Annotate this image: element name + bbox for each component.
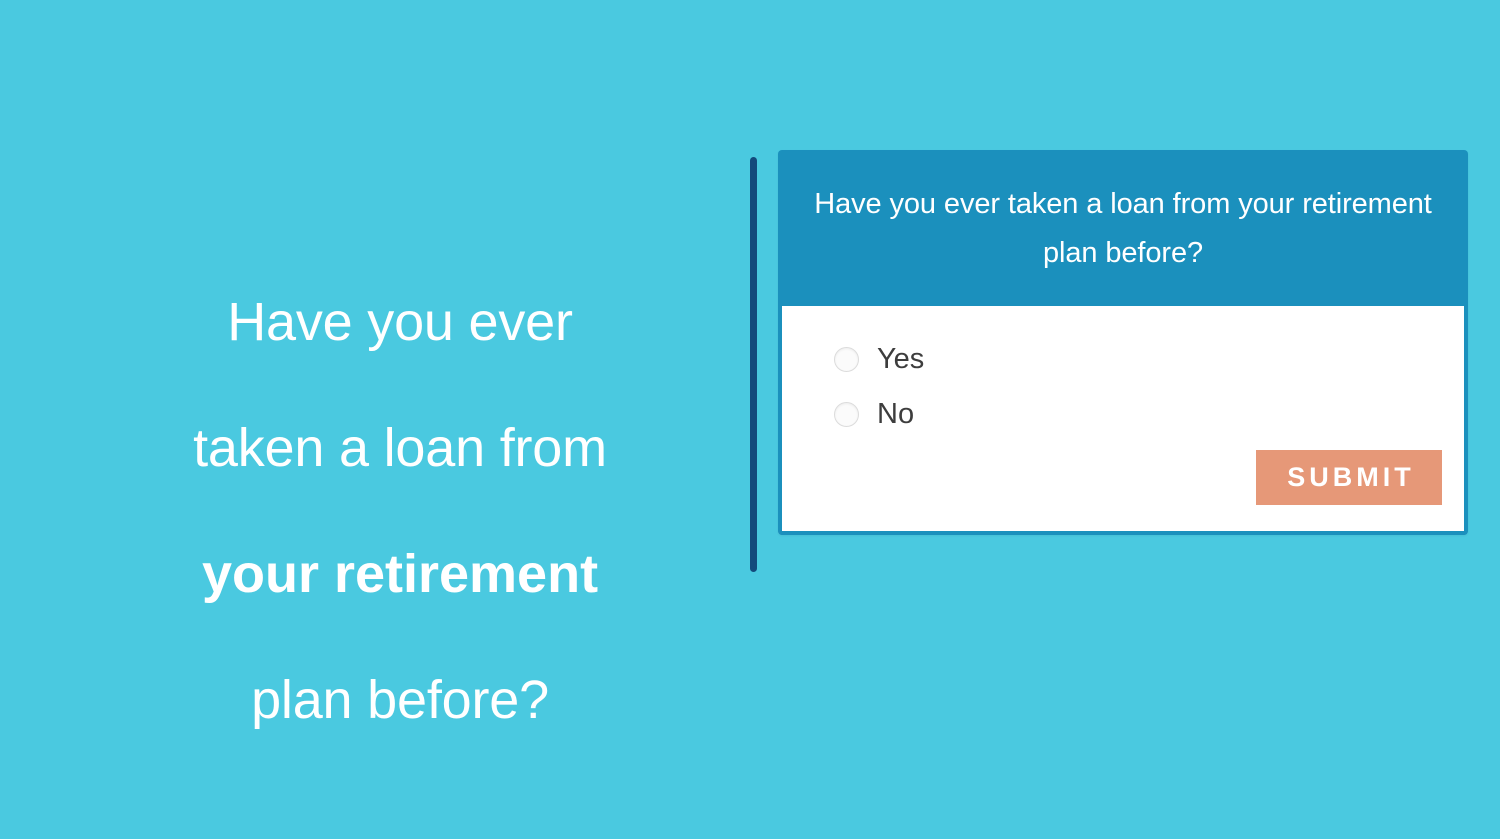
poll-option-label-no: No xyxy=(877,400,914,429)
vertical-divider xyxy=(750,157,757,572)
poll-actions: SUBMIT xyxy=(834,450,1442,505)
poll-option-yes[interactable]: Yes xyxy=(834,332,1442,387)
poll-option-no[interactable]: No xyxy=(834,387,1442,442)
radio-button-icon-no[interactable] xyxy=(834,402,859,427)
poll-option-label-yes: Yes xyxy=(877,345,924,374)
radio-button-icon-yes[interactable] xyxy=(834,347,859,372)
poll-slide: Have you ever taken a loan from your ret… xyxy=(0,0,1500,839)
headline-line-3: your retirement xyxy=(110,543,690,606)
poll-card: Have you ever taken a loan from your ret… xyxy=(778,150,1468,535)
poll-card-header: Have you ever taken a loan from your ret… xyxy=(778,150,1468,306)
headline-line-4: plan before? xyxy=(110,669,690,732)
poll-card-body: Yes No SUBMIT xyxy=(778,306,1468,535)
headline-line-1: Have you ever xyxy=(110,291,690,354)
headline-line-2: taken a loan from xyxy=(110,417,690,480)
headline: Have you ever taken a loan from your ret… xyxy=(110,228,690,795)
submit-button[interactable]: SUBMIT xyxy=(1256,450,1442,505)
poll-option-list: Yes No xyxy=(834,332,1442,442)
poll-question: Have you ever taken a loan from your ret… xyxy=(810,180,1436,278)
